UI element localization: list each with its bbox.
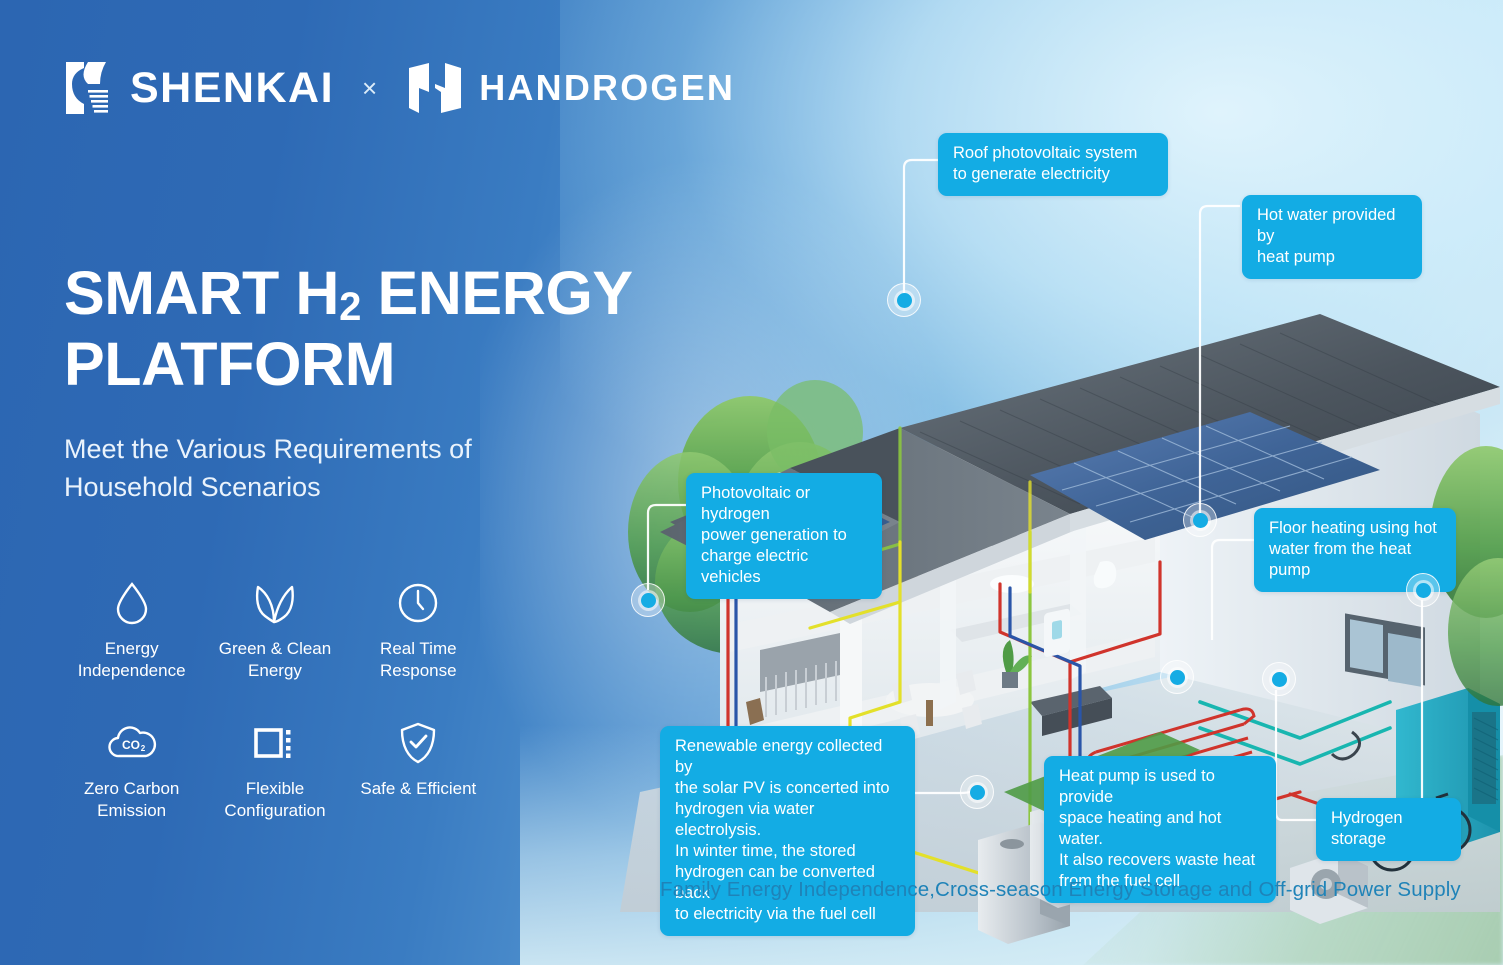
footer-caption: Family Energy Independence,Cross-season … [660, 878, 1480, 902]
title-subscript: 2 [339, 285, 361, 329]
shenkai-logo-mark [64, 60, 116, 116]
water-drop-icon [114, 580, 150, 626]
svg-text:CO: CO [122, 738, 140, 752]
feature-label: Green & Clean Energy [203, 638, 346, 682]
callout-roof-pv[interactable]: Roof photovoltaic system to generate ele… [938, 133, 1168, 196]
clock-icon [397, 580, 439, 626]
handrogen-logo-mark [405, 62, 465, 114]
feature-flexible-configuration: Flexible Configuration [203, 720, 346, 822]
hotspot-fuel-cell[interactable] [960, 775, 994, 809]
shield-check-icon [398, 720, 438, 766]
feature-label: Energy Independence [60, 638, 203, 682]
modular-blocks-icon [253, 720, 297, 766]
feature-real-time-response: Real Time Response [347, 580, 490, 682]
co2-cloud-icon: CO 2 [106, 720, 158, 766]
feature-label: Zero Carbon Emission [60, 778, 203, 822]
feature-safe-efficient: Safe & Efficient [347, 720, 490, 822]
hotspot-ev-charging[interactable] [631, 583, 665, 617]
leaf-icon [253, 580, 297, 626]
feature-label: Real Time Response [347, 638, 490, 682]
page-subtitle: Meet the Various Requirements of Househo… [64, 430, 584, 507]
title-line-2: PLATFORM [64, 330, 395, 398]
feature-label: Safe & Efficient [360, 778, 476, 800]
svg-text:2: 2 [140, 744, 145, 753]
feature-green-clean-energy: Green & Clean Energy [203, 580, 346, 682]
ev-wallbox [1044, 608, 1070, 658]
house-illustration: Roof photovoltaic system to generate ele… [560, 0, 1503, 965]
callout-hydrogen-storage[interactable]: Hydrogen storage [1316, 798, 1461, 861]
shenkai-brand: SHENKAI [64, 60, 334, 116]
callout-ev-charging[interactable]: Photovoltaic or hydrogen power generatio… [686, 473, 882, 599]
callout-fuel-cell[interactable]: Renewable energy collected by the solar … [660, 726, 915, 936]
hotspot-heat-pump[interactable] [1262, 662, 1296, 696]
hotspot-hot-water[interactable] [1183, 503, 1217, 537]
feature-grid: Energy Independence Green & Clean Energy [60, 580, 490, 822]
hotspot-roof-pv[interactable] [887, 283, 921, 317]
title-part-1: SMART H [64, 259, 339, 327]
shenkai-wordmark: SHENKAI [130, 67, 334, 110]
left-content-panel: SHENKAI × HANDROGEN SMART H2 ENERGYPLATF… [0, 0, 620, 965]
infographic-canvas: SHENKAI × HANDROGEN SMART H2 ENERGYPLATF… [0, 0, 1503, 965]
feature-zero-carbon-emission: CO 2 Zero Carbon Emission [60, 720, 203, 822]
feature-label: Flexible Configuration [203, 778, 346, 822]
feature-energy-independence: Energy Independence [60, 580, 203, 682]
hotspot-hydrogen-storage[interactable] [1406, 573, 1440, 607]
brand-separator: × [362, 73, 377, 104]
hotspot-floor-heating[interactable] [1160, 660, 1194, 694]
callout-hot-water[interactable]: Hot water provided by heat pump [1242, 195, 1422, 279]
